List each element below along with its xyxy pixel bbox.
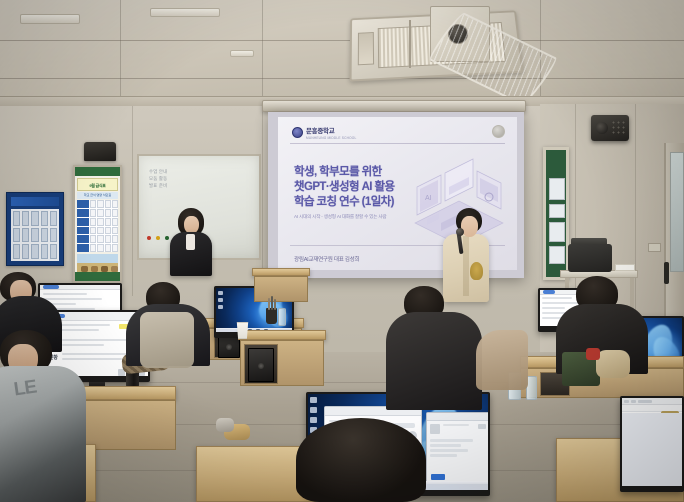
ceiling-light-fixture: [150, 8, 220, 17]
door-glass-panel: [670, 152, 684, 272]
audience-3-draped-garment: [140, 312, 194, 368]
desk-mid-center: [238, 330, 326, 340]
audience-head-center-foreground: [296, 418, 426, 502]
pc-tower: [248, 348, 274, 382]
water-bottle: [278, 308, 286, 326]
slide-presenter-credit: 광림AI교재연구원 대표 김성희: [294, 255, 359, 263]
plush-toy: [596, 350, 630, 378]
wall-speaker-small: [84, 142, 116, 161]
banner-calendar-grid: [77, 200, 118, 252]
ceiling-light-fixture: [20, 14, 80, 24]
desk-teacher-podium: [252, 268, 310, 276]
slide-title-line-2: 챗GPT·생성형 AI 활용: [294, 180, 446, 195]
paper-stack: [615, 264, 635, 271]
ceiling-light-fixture: [230, 50, 254, 57]
settings-dialog[interactable]: [426, 412, 488, 484]
wall-mounted-speaker: [591, 115, 629, 141]
audience-torso-4: [386, 312, 482, 410]
presenter-cardigan-placket: [463, 236, 469, 296]
desk-teacher-podium-panel: [254, 276, 308, 302]
wall-light-switch[interactable]: [648, 243, 661, 252]
slide-title-line-1: 학생, 학부모를 위한: [294, 165, 446, 180]
school-name-romanized: MUNHEUNG MIDDLE SCHOOL: [306, 136, 356, 140]
monitor-right-front[interactable]: [620, 396, 684, 492]
audience-arm-right: [476, 330, 528, 390]
standing-staff-collar: [186, 234, 195, 250]
banner-photo: [77, 254, 118, 274]
lunch-menu-banner: 9월 급식표 학교 급식 영양 식단표: [73, 165, 122, 283]
jacket-lettering: LE: [13, 377, 38, 402]
door-handle[interactable]: [664, 262, 669, 284]
projection-screen-housing: [262, 100, 526, 112]
pen-holder: [266, 308, 277, 324]
paper-cup: [236, 322, 249, 339]
ceiling-fan-rod: [409, 20, 411, 68]
desktop-printer: [568, 244, 612, 272]
school-emblem-icon: [292, 127, 303, 138]
banner-subtitle: 학교 급식 영양 식단표: [77, 192, 118, 199]
plastic-bag: [216, 418, 234, 432]
whiteboard-handwriting: 수업 안내 모둠 활동 발표 준비: [149, 168, 219, 189]
slide-school-logo: 문흥중학교 MUNHEUNG MIDDLE SCHOOL: [292, 125, 356, 140]
red-pouch: [586, 348, 600, 360]
presenter-embroidery: [470, 262, 483, 280]
classroom-photo-scene: 9월 급식표 학교 급식 영양 식단표 수업 안내 모둠 활동 발표 준비: [0, 0, 684, 502]
slide-title-block: 학생, 학부모를 위한 챗GPT·생성형 AI 활용 학습 코칭 연수 (1일차…: [294, 165, 446, 220]
microphone-head: [456, 228, 464, 236]
school-name: 문흥중학교: [306, 125, 356, 135]
wall-poster-chart: [6, 192, 64, 266]
green-bulletin-board: [543, 147, 569, 280]
banner-title: 9월 급식표: [78, 179, 117, 192]
slide-subtitle: AI 시대의 시작 - 생성형 AI 대화를 잘할 수 있는 사람: [294, 214, 446, 220]
slide-seal-icon: [492, 125, 505, 138]
slide-title-line-3: 학습 코칭 연수 (1일차): [294, 195, 446, 210]
